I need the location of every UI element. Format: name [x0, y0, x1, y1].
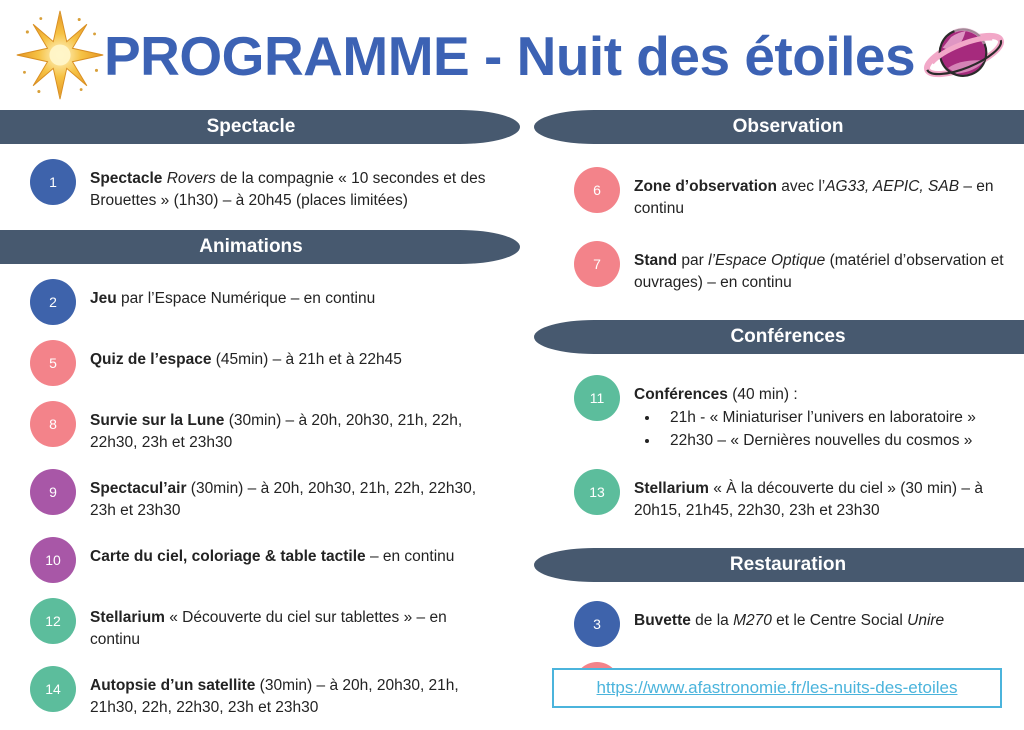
right-column: Observation 6 Zone d’observation avec l’… [512, 110, 1024, 730]
list-item[interactable]: 11 Conférences (40 min) :21h - « Miniatu… [574, 374, 1014, 452]
list-item[interactable]: 12 Stellarium « Découverte du ciel sur t… [30, 597, 500, 651]
item-text: Survie sur la Lune (30min) – à 20h, 20h3… [90, 400, 500, 454]
list-item[interactable]: 8 Survie sur la Lune (30min) – à 20h, 20… [30, 400, 500, 454]
section-title: Observation [733, 116, 844, 138]
item-number-badge: 7 [574, 241, 620, 287]
item-text: Stellarium « Découverte du ciel sur tabl… [90, 597, 500, 651]
item-text: Zone d’observation avec l’AG33, AEPIC, S… [634, 166, 1014, 220]
website-url-link[interactable]: https://www.afastronomie.fr/les-nuits-de… [552, 668, 1002, 708]
list-item[interactable]: 6 Zone d’observation avec l’AG33, AEPIC,… [574, 166, 1014, 220]
section-header-spectacle: Spectacle [0, 110, 520, 144]
page-title: PROGRAMME - Nuit des étoiles [104, 16, 924, 96]
list-item[interactable]: 2 Jeu par l’Espace Numérique – en contin… [30, 278, 500, 325]
item-number-badge: 14 [30, 666, 76, 712]
star-icon [12, 6, 108, 104]
list-item[interactable]: 3 Buvette de la M270 et le Centre Social… [574, 600, 1014, 647]
sub-bullet-list: 21h - « Miniaturiser l’univers en labora… [634, 407, 976, 452]
item-text: Stand par l’Espace Optique (matériel d’o… [634, 240, 1014, 294]
observation-item-list: 6 Zone d’observation avec l’AG33, AEPIC,… [512, 166, 1024, 294]
page-header: PROGRAMME - Nuit des étoiles [0, 0, 1024, 110]
list-item[interactable]: 5 Quiz de l’espace (45min) – à 21h et à … [30, 339, 500, 386]
list-item[interactable]: 9 Spectacul’air (30min) – à 20h, 20h30, … [30, 468, 500, 522]
list-item[interactable]: 1 Spectacle Rovers de la compagnie « 10 … [30, 158, 500, 212]
conferences-item-list: 11 Conférences (40 min) :21h - « Miniatu… [512, 374, 1024, 522]
item-number-badge: 10 [30, 537, 76, 583]
item-number-badge: 9 [30, 469, 76, 515]
item-number-badge: 5 [30, 340, 76, 386]
list-item[interactable]: 13 Stellarium « À la découverte du ciel … [574, 468, 1014, 522]
item-text: Autopsie d’un satellite (30min) – à 20h,… [90, 665, 500, 719]
item-number-badge: 12 [30, 598, 76, 644]
sub-bullet-item: 22h30 – « Dernières nouvelles du cosmos … [660, 430, 976, 452]
item-text: Jeu par l’Espace Numérique – en continu [90, 278, 375, 310]
list-item[interactable]: 14 Autopsie d’un satellite (30min) – à 2… [30, 665, 500, 719]
list-item[interactable]: 10 Carte du ciel, coloriage & table tact… [30, 536, 500, 583]
item-text: Stellarium « À la découverte du ciel » (… [634, 468, 1014, 522]
section-title: Restauration [730, 554, 846, 576]
section-title: Animations [199, 236, 302, 258]
section-header-observation: Observation [534, 110, 1024, 144]
animations-item-list: 2 Jeu par l’Espace Numérique – en contin… [0, 278, 512, 719]
list-item[interactable]: 7 Stand par l’Espace Optique (matériel d… [574, 240, 1014, 294]
item-text: Spectacle Rovers de la compagnie « 10 se… [90, 158, 500, 212]
item-number-badge: 8 [30, 401, 76, 447]
item-number-badge: 13 [574, 469, 620, 515]
item-text: Conférences (40 min) :21h - « Miniaturis… [634, 374, 976, 452]
section-header-restauration: Restauration [534, 548, 1024, 582]
item-text: Carte du ciel, coloriage & table tactile… [90, 536, 454, 568]
section-header-animations: Animations [0, 230, 520, 264]
item-text: Spectacul’air (30min) – à 20h, 20h30, 21… [90, 468, 500, 522]
saturn-planet-icon [920, 18, 1008, 92]
item-number-badge: 3 [574, 601, 620, 647]
left-column: Spectacle 1 Spectacle Rovers de la compa… [0, 110, 512, 730]
section-header-conferences: Conférences [534, 320, 1024, 354]
sub-bullet-item: 21h - « Miniaturiser l’univers en labora… [660, 407, 976, 429]
item-number-badge: 1 [30, 159, 76, 205]
item-text: Buvette de la M270 et le Centre Social U… [634, 600, 944, 632]
item-number-badge: 6 [574, 167, 620, 213]
item-number-badge: 2 [30, 279, 76, 325]
url-label: https://www.afastronomie.fr/les-nuits-de… [597, 678, 958, 698]
item-number-badge: 11 [574, 375, 620, 421]
item-text: Quiz de l’espace (45min) – à 21h et à 22… [90, 339, 402, 371]
section-title: Conférences [730, 326, 845, 348]
section-title: Spectacle [207, 116, 296, 138]
spectacle-item-list: 1 Spectacle Rovers de la compagnie « 10 … [0, 158, 512, 212]
